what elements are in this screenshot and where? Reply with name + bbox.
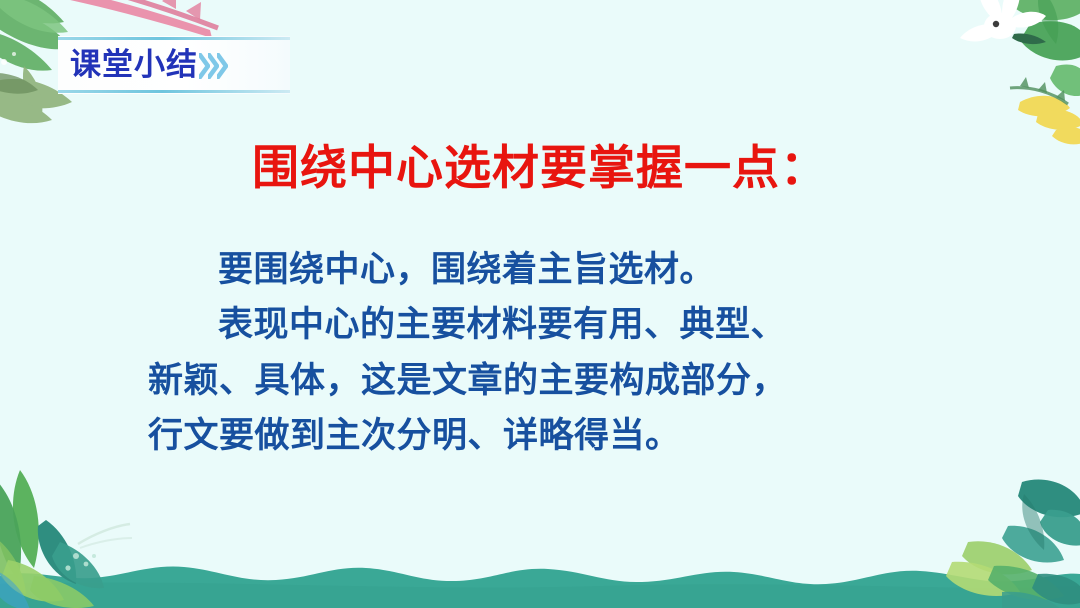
section-badge: 课堂小结	[58, 36, 290, 94]
body-paragraph: 要围绕中心，围绕着主旨选材。 表现中心的主要材料要有用、典型、 新颖、具体，这是…	[148, 243, 948, 464]
body-line: 新颖、具体，这是文章的主要构成部分，	[148, 354, 948, 409]
body-line: 表现中心的主要材料要有用、典型、	[148, 298, 948, 353]
badge-content: 课堂小结	[58, 36, 290, 94]
badge-label: 课堂小结	[70, 50, 198, 81]
page-title: 围绕中心选材要掌握一点：	[0, 143, 1080, 196]
chevron-right-icon	[217, 53, 228, 79]
grass-wave-band	[0, 558, 1080, 608]
body-line: 要围绕中心，围绕着主旨选材。	[148, 243, 948, 298]
body-line: 行文要做到主次分明、详略得当。	[148, 409, 948, 464]
slide-canvas: 课堂小结 围绕中心选材要掌握一点： 要围绕中心，围绕着主旨选材。 表现中心的主要…	[0, 0, 1080, 608]
chevron-group	[201, 53, 228, 79]
